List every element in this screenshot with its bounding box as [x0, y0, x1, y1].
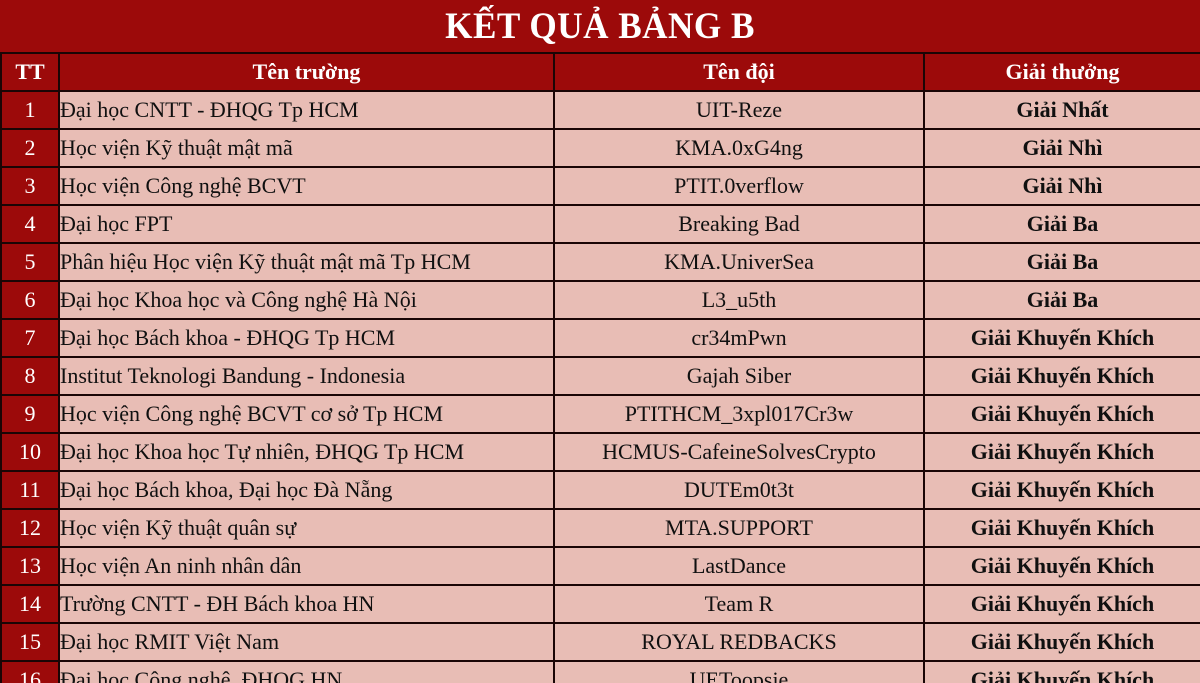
table-row: 14Trường CNTT - ĐH Bách khoa HNTeam RGiả…: [1, 585, 1200, 623]
cell-prize: Giải Khuyến Khích: [924, 661, 1200, 683]
table-header: TT Tên trường Tên đội Giải thưởng: [1, 53, 1200, 91]
table-row: 1Đại học CNTT - ĐHQG Tp HCMUIT-RezeGiải …: [1, 91, 1200, 129]
cell-rank: 14: [1, 585, 59, 623]
cell-rank: 12: [1, 509, 59, 547]
cell-prize: Giải Nhì: [924, 167, 1200, 205]
cell-rank: 13: [1, 547, 59, 585]
title-banner: KẾT QUẢ BẢNG B: [0, 0, 1200, 52]
cell-team: UIT-Reze: [554, 91, 924, 129]
results-table: TT Tên trường Tên đội Giải thưởng 1Đại h…: [0, 52, 1200, 683]
cell-team: Team R: [554, 585, 924, 623]
cell-school: Học viện Công nghệ BCVT: [59, 167, 554, 205]
cell-school: Đại học FPT: [59, 205, 554, 243]
cell-rank: 1: [1, 91, 59, 129]
cell-rank: 11: [1, 471, 59, 509]
cell-team: Gajah Siber: [554, 357, 924, 395]
cell-prize: Giải Khuyến Khích: [924, 319, 1200, 357]
cell-prize: Giải Khuyến Khích: [924, 623, 1200, 661]
page-title: KẾT QUẢ BẢNG B: [445, 8, 755, 45]
cell-team: KMA.0xG4ng: [554, 129, 924, 167]
table-row: 16Đại học Công nghệ, ĐHQG HNUEToopsieGiả…: [1, 661, 1200, 683]
cell-prize: Giải Khuyến Khích: [924, 395, 1200, 433]
table-row: 13Học viện An ninh nhân dânLastDanceGiải…: [1, 547, 1200, 585]
cell-team: cr34mPwn: [554, 319, 924, 357]
cell-team: Breaking Bad: [554, 205, 924, 243]
table-row: 6Đại học Khoa học và Công nghệ Hà NộiL3_…: [1, 281, 1200, 319]
cell-school: Đại học Công nghệ, ĐHQG HN: [59, 661, 554, 683]
cell-prize: Giải Khuyến Khích: [924, 585, 1200, 623]
table-row: 2Học viện Kỹ thuật mật mãKMA.0xG4ngGiải …: [1, 129, 1200, 167]
table-body: 1Đại học CNTT - ĐHQG Tp HCMUIT-RezeGiải …: [1, 91, 1200, 683]
cell-school: Học viện Công nghệ BCVT cơ sở Tp HCM: [59, 395, 554, 433]
table-row: 15Đại học RMIT Việt NamROYAL REDBACKSGiả…: [1, 623, 1200, 661]
column-header-prize: Giải thưởng: [924, 53, 1200, 91]
cell-rank: 6: [1, 281, 59, 319]
cell-team: PTITHCM_3xpl017Cr3w: [554, 395, 924, 433]
table-row: 10Đại học Khoa học Tự nhiên, ĐHQG Tp HCM…: [1, 433, 1200, 471]
cell-school: Đại học Khoa học Tự nhiên, ĐHQG Tp HCM: [59, 433, 554, 471]
cell-prize: Giải Ba: [924, 281, 1200, 319]
table-row: 3Học viện Công nghệ BCVTPTIT.0verflowGiả…: [1, 167, 1200, 205]
table-row: 4Đại học FPTBreaking BadGiải Ba: [1, 205, 1200, 243]
cell-team: PTIT.0verflow: [554, 167, 924, 205]
cell-school: Đại học RMIT Việt Nam: [59, 623, 554, 661]
cell-team: UEToopsie: [554, 661, 924, 683]
cell-prize: Giải Ba: [924, 205, 1200, 243]
cell-rank: 9: [1, 395, 59, 433]
cell-team: KMA.UniverSea: [554, 243, 924, 281]
table-row: 9Học viện Công nghệ BCVT cơ sở Tp HCMPTI…: [1, 395, 1200, 433]
cell-school: Đại học Bách khoa - ĐHQG Tp HCM: [59, 319, 554, 357]
cell-team: DUTEm0t3t: [554, 471, 924, 509]
cell-school: Institut Teknologi Bandung - Indonesia: [59, 357, 554, 395]
cell-school: Trường CNTT - ĐH Bách khoa HN: [59, 585, 554, 623]
cell-team: ROYAL REDBACKS: [554, 623, 924, 661]
cell-school: Phân hiệu Học viện Kỹ thuật mật mã Tp HC…: [59, 243, 554, 281]
cell-prize: Giải Nhì: [924, 129, 1200, 167]
cell-rank: 15: [1, 623, 59, 661]
cell-school: Đại học Khoa học và Công nghệ Hà Nội: [59, 281, 554, 319]
cell-prize: Giải Khuyến Khích: [924, 509, 1200, 547]
column-header-team: Tên đội: [554, 53, 924, 91]
table-row: 8Institut Teknologi Bandung - IndonesiaG…: [1, 357, 1200, 395]
results-page: KẾT QUẢ BẢNG B TT Tên trường Tên đội Giả…: [0, 0, 1200, 683]
cell-team: MTA.SUPPORT: [554, 509, 924, 547]
cell-prize: Giải Ba: [924, 243, 1200, 281]
table-row: 7Đại học Bách khoa - ĐHQG Tp HCMcr34mPwn…: [1, 319, 1200, 357]
cell-rank: 3: [1, 167, 59, 205]
cell-prize: Giải Khuyến Khích: [924, 357, 1200, 395]
cell-team: HCMUS-CafeineSolvesCrypto: [554, 433, 924, 471]
cell-school: Học viện Kỹ thuật quân sự: [59, 509, 554, 547]
cell-rank: 8: [1, 357, 59, 395]
cell-rank: 10: [1, 433, 59, 471]
cell-rank: 7: [1, 319, 59, 357]
cell-rank: 5: [1, 243, 59, 281]
table-row: 12Học viện Kỹ thuật quân sựMTA.SUPPORTGi…: [1, 509, 1200, 547]
cell-rank: 16: [1, 661, 59, 683]
column-header-tt: TT: [1, 53, 59, 91]
header-row: TT Tên trường Tên đội Giải thưởng: [1, 53, 1200, 91]
table-row: 5Phân hiệu Học viện Kỹ thuật mật mã Tp H…: [1, 243, 1200, 281]
cell-prize: Giải Khuyến Khích: [924, 433, 1200, 471]
cell-team: L3_u5th: [554, 281, 924, 319]
cell-school: Đại học Bách khoa, Đại học Đà Nẵng: [59, 471, 554, 509]
cell-school: Học viện Kỹ thuật mật mã: [59, 129, 554, 167]
cell-prize: Giải Nhất: [924, 91, 1200, 129]
cell-prize: Giải Khuyến Khích: [924, 547, 1200, 585]
cell-rank: 4: [1, 205, 59, 243]
table-row: 11Đại học Bách khoa, Đại học Đà NẵngDUTE…: [1, 471, 1200, 509]
cell-school: Đại học CNTT - ĐHQG Tp HCM: [59, 91, 554, 129]
cell-prize: Giải Khuyến Khích: [924, 471, 1200, 509]
cell-team: LastDance: [554, 547, 924, 585]
column-header-school: Tên trường: [59, 53, 554, 91]
cell-school: Học viện An ninh nhân dân: [59, 547, 554, 585]
cell-rank: 2: [1, 129, 59, 167]
